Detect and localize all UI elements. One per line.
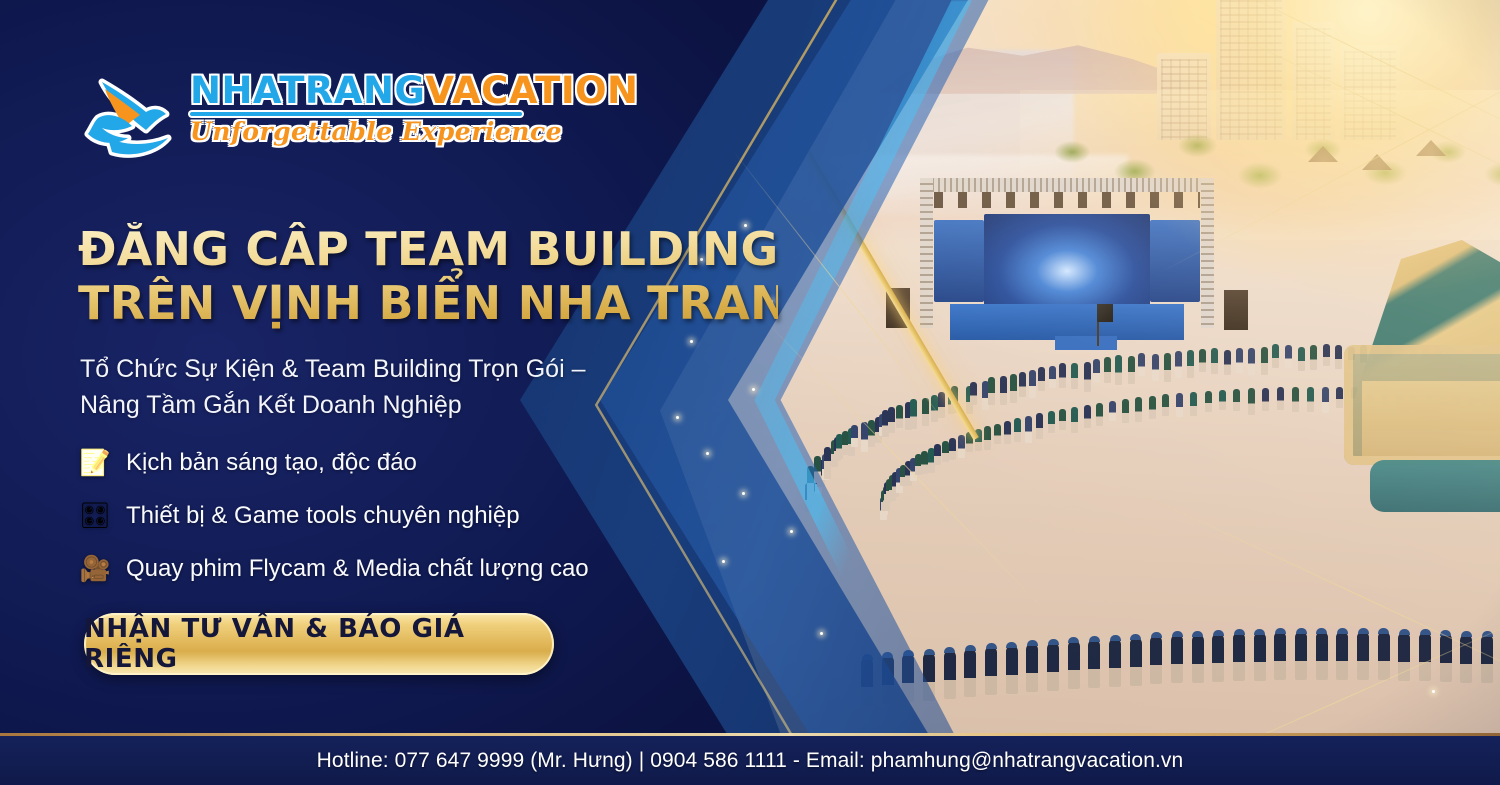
participant (1071, 363, 1078, 389)
promo-banner: NHATRANGVACATION Unforgettable Experienc… (0, 0, 1500, 785)
participant-foreground (1068, 641, 1080, 689)
participant-foreground (1254, 633, 1266, 681)
participant (1019, 372, 1026, 398)
participant (1115, 355, 1122, 385)
participant-cap (965, 645, 976, 651)
led-screen-right (1150, 220, 1200, 302)
participant-foreground (985, 647, 997, 695)
participant (1010, 374, 1017, 403)
participant (1038, 367, 1045, 391)
participant (1248, 388, 1255, 414)
participant (1211, 348, 1218, 373)
brand-underline (190, 112, 522, 116)
participant (1135, 397, 1142, 421)
participant-cap (862, 654, 873, 660)
participant-cap (1275, 628, 1286, 634)
participant-cap (1048, 639, 1059, 645)
participant-cap (944, 647, 955, 653)
participant-foreground (1440, 634, 1452, 682)
participant-foreground (1460, 635, 1472, 683)
participant-cap (1027, 640, 1038, 646)
feature-label: Kịch bản sáng tạo, độc đáo (126, 449, 417, 477)
participant (1336, 387, 1343, 408)
participant-cap (1130, 634, 1141, 640)
participant-foreground (1336, 632, 1348, 680)
inflatable-bouncer (1344, 345, 1500, 465)
participant (951, 386, 958, 413)
participant (984, 426, 991, 449)
participant (1109, 401, 1116, 422)
contact-info: Hotline: 077 647 9999 (Mr. Hưng) | 0904 … (0, 736, 1500, 785)
feature-label: Thiết bị & Game tools chuyên nghiệp (126, 502, 520, 530)
participant (988, 377, 995, 405)
participant-cap (1440, 630, 1451, 636)
brand-name-part1: NHATRANG (190, 69, 425, 112)
cta-button[interactable]: NHẬN TƯ VẤN & BÁO GIÁ RIÊNG (84, 613, 554, 675)
participant (1059, 409, 1066, 430)
participant (970, 382, 977, 405)
participant-foreground (1192, 635, 1204, 683)
participant-cap (1172, 631, 1183, 637)
participant (1205, 391, 1212, 412)
participant (1272, 344, 1279, 368)
list-item: 📝 Kịch bản sáng tạo, độc đáo (80, 442, 700, 484)
participant (1049, 366, 1056, 389)
participant-cap (1151, 632, 1162, 638)
participant-cap (1420, 629, 1431, 635)
participant-cap (1234, 629, 1245, 635)
participant (1084, 362, 1091, 392)
feature-list: 📝 Kịch bản sáng tạo, độc đáo 🎛 Thiết bị … (80, 442, 700, 601)
participant-cap (1213, 630, 1224, 636)
participant (1014, 418, 1021, 441)
participant (814, 456, 821, 483)
participant-cap (1296, 628, 1307, 634)
participant-foreground (1212, 634, 1224, 682)
subtitle-line-1: Tổ Chức Sự Kiện & Team Building Trọn Gói… (80, 352, 640, 388)
participant (1224, 350, 1231, 375)
feature-label: Quay phim Flycam & Media chất lượng cao (126, 555, 589, 583)
participant (1233, 389, 1240, 411)
participant (1059, 363, 1066, 387)
participant-cap (986, 643, 997, 649)
participant (1162, 394, 1169, 415)
participant (1199, 349, 1206, 371)
participant (942, 441, 949, 462)
participant (1261, 347, 1268, 376)
participant (824, 447, 831, 471)
participant (922, 398, 929, 426)
participant (888, 407, 895, 433)
participant-foreground (1398, 633, 1410, 681)
participant-foreground (1295, 632, 1307, 680)
participant (1248, 348, 1255, 375)
subtitle-line-2: Nâng Tầm Gắn Kết Doanh Nghiệp (80, 388, 640, 424)
participant-cap (1378, 628, 1389, 634)
headline-line-2: TRÊN VỊNH BIỂN NHA TRANG (78, 276, 778, 330)
participant-cap (1316, 628, 1327, 634)
participant-foreground (882, 656, 894, 704)
participant-foreground (1109, 639, 1121, 687)
brand-wordmark: NHATRANGVACATION Unforgettable Experienc… (190, 72, 639, 146)
participant (966, 432, 973, 452)
event-photo (660, 0, 1500, 785)
participant (1175, 351, 1182, 378)
participant (868, 420, 875, 447)
participant-cap (1192, 631, 1203, 637)
led-screen-main (984, 214, 1150, 306)
brand-tagline: Unforgettable Experience (190, 118, 639, 146)
participant (1138, 353, 1145, 376)
participant (938, 392, 945, 417)
participant-foreground (1130, 638, 1142, 686)
participant (1310, 345, 1317, 369)
memo-pencil-icon: 📝 (80, 448, 110, 478)
participant (1307, 387, 1314, 413)
participant-cap (903, 650, 914, 656)
participant (1036, 413, 1043, 439)
participant (1128, 356, 1135, 384)
participant (1176, 393, 1183, 417)
participant (1236, 348, 1243, 373)
participant (1190, 392, 1197, 416)
participant-foreground (1378, 632, 1390, 680)
participant-foreground (861, 658, 873, 706)
participant-cap (1337, 628, 1348, 634)
stage-truss (922, 178, 1212, 192)
participant-cap (1089, 636, 1100, 642)
participant (1000, 376, 1007, 405)
led-screen-left (934, 220, 984, 302)
participant-foreground (1316, 632, 1328, 680)
participant-foreground (944, 651, 956, 699)
participant-foreground (1274, 632, 1286, 680)
truss-leg-right (1201, 178, 1214, 328)
participant (1122, 399, 1129, 423)
inflatable-pool (1370, 460, 1500, 512)
participant (1187, 350, 1194, 378)
participant (910, 399, 917, 429)
participant-foreground (923, 653, 935, 701)
participant (1277, 387, 1284, 410)
participant-foreground (1481, 635, 1493, 683)
participant-cap (1110, 635, 1121, 641)
participant-foreground (902, 654, 914, 702)
participant (1093, 359, 1100, 383)
participant (861, 422, 868, 452)
event-flag (1097, 304, 1113, 322)
participant-cap (882, 652, 893, 658)
truss-leg-left (920, 178, 933, 328)
dj-control-desk-icon: 🎛 (80, 501, 110, 531)
participant (1335, 345, 1342, 370)
participant (975, 429, 982, 451)
participant-cap (1068, 637, 1079, 643)
participant (1292, 387, 1299, 412)
participant-foreground (1233, 633, 1245, 681)
participant (994, 424, 1001, 445)
stage-deck (950, 304, 1184, 340)
participant-cap (1399, 629, 1410, 635)
participant (1298, 347, 1305, 371)
participant (1071, 407, 1078, 433)
led-stage (912, 178, 1222, 348)
stage-lights (934, 192, 1200, 208)
participant (1285, 345, 1292, 367)
participant (1029, 370, 1036, 398)
brand-name-part2: VACATION (425, 69, 638, 112)
speaker-stack-right (1224, 290, 1248, 330)
participant-foreground (1419, 633, 1431, 681)
participant-foreground (1006, 646, 1018, 694)
headline-line-1: ĐẲNG CẤP TEAM BUILDING (78, 222, 778, 276)
participant (958, 435, 965, 458)
speaker-stack-left (886, 288, 910, 328)
bird-wave-logo-icon (72, 68, 184, 164)
participant (1025, 416, 1032, 443)
participant-foreground (1047, 643, 1059, 691)
participant-cap (1358, 628, 1369, 634)
participant (1004, 421, 1011, 444)
participant (934, 444, 941, 464)
participant-cap (1482, 631, 1493, 637)
participant (1262, 388, 1269, 411)
participant (1104, 357, 1111, 382)
participant (1152, 354, 1159, 380)
sparkle (690, 340, 693, 343)
participant (1323, 344, 1330, 367)
participant (949, 438, 956, 460)
cta-button-label: NHẬN TƯ VẤN & BÁO GIÁ RIÊNG (84, 614, 554, 674)
participant-foreground (1171, 635, 1183, 683)
list-item: 🎛 Thiết bị & Game tools chuyên nghiệp (80, 495, 700, 537)
participant (1149, 396, 1156, 419)
participant-cap (924, 649, 935, 655)
participant (1096, 403, 1103, 426)
participant (1322, 387, 1329, 413)
participant-foreground (1088, 640, 1100, 688)
participant-foreground (1150, 636, 1162, 684)
participant (851, 425, 858, 448)
participant (1084, 405, 1091, 428)
participant (896, 405, 903, 428)
participant-foreground (964, 649, 976, 697)
participant-foreground (1357, 632, 1369, 680)
list-item: 🎥 Quay phim Flycam & Media chất lượng ca… (80, 548, 700, 590)
participant-cap (1254, 629, 1265, 635)
movie-camera-icon: 🎥 (80, 554, 110, 584)
subtitle: Tổ Chức Sự Kiện & Team Building Trọn Gói… (80, 352, 640, 423)
participant-foreground (1026, 644, 1038, 692)
participant-cap (1461, 631, 1472, 637)
participant (1164, 353, 1171, 382)
page-title: ĐẲNG CẤP TEAM BUILDING TRÊN VỊNH BIỂN NH… (78, 222, 778, 331)
participant (1219, 390, 1226, 410)
brand-logo[interactable]: NHATRANGVACATION Unforgettable Experienc… (72, 62, 522, 172)
participant (1048, 411, 1055, 433)
participant-cap (1006, 642, 1017, 648)
